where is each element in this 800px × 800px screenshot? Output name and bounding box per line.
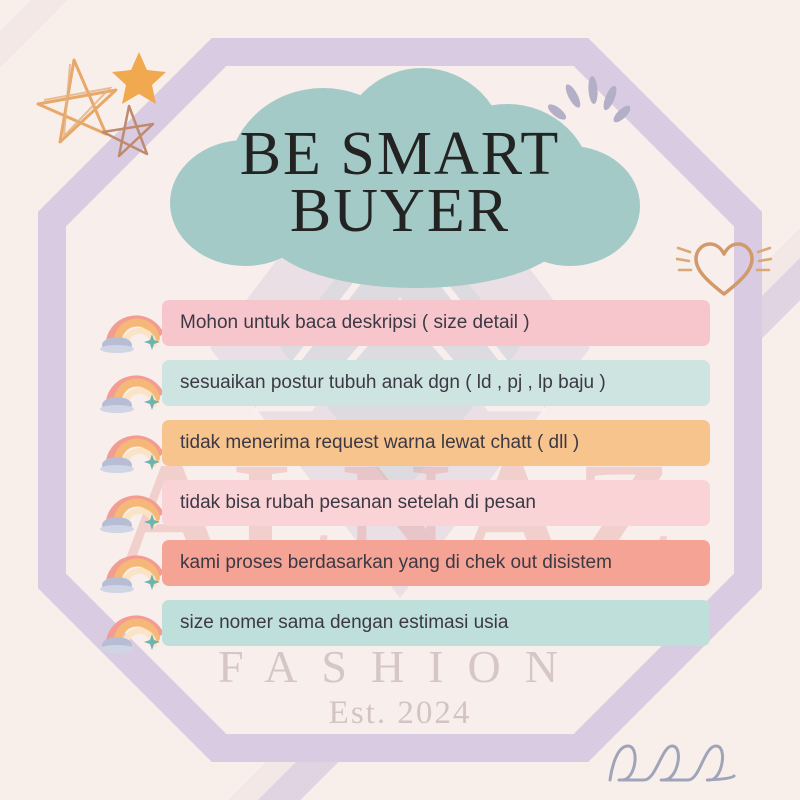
list-item[interactable]: sesuaikan postur tubuh anak dgn ( ld , p…	[100, 360, 710, 417]
rule-bar[interactable]: Mohon untuk baca deskripsi ( size detail…	[162, 300, 710, 346]
rule-text: kami proses berdasarkan yang di chek out…	[162, 552, 612, 574]
rule-bar[interactable]: sesuaikan postur tubuh anak dgn ( ld , p…	[162, 360, 710, 406]
rule-text: sesuaikan postur tubuh anak dgn ( ld , p…	[162, 372, 606, 394]
rule-text: Mohon untuk baca deskripsi ( size detail…	[162, 312, 530, 334]
sparkle-icon	[144, 514, 160, 530]
rule-bar[interactable]: kami proses berdasarkan yang di chek out…	[162, 540, 710, 586]
loop-squiggle-icon	[606, 736, 736, 788]
list-item[interactable]: tidak menerima request warna lewat chatt…	[100, 420, 710, 477]
sparkle-icon	[144, 334, 160, 350]
poster-canvas: ALNAZ FASHION Est. 2024 BE SMART BUYER	[0, 0, 800, 800]
list-item[interactable]: kami proses berdasarkan yang di chek out…	[100, 540, 710, 597]
rule-text: tidak bisa rubah pesanan setelah di pesa…	[162, 492, 536, 514]
sparkle-icon	[144, 394, 160, 410]
heart-outline-icon	[676, 228, 772, 302]
rule-bar[interactable]: tidak bisa rubah pesanan setelah di pesa…	[162, 480, 710, 526]
list-item[interactable]: size nomer sama dengan estimasi usia	[100, 600, 710, 657]
rule-text: tidak menerima request warna lewat chatt…	[162, 432, 579, 454]
list-item[interactable]: Mohon untuk baca deskripsi ( size detail…	[100, 300, 710, 357]
rules-list: Mohon untuk baca deskripsi ( size detail…	[100, 300, 710, 660]
sparkle-icon	[144, 634, 160, 650]
star-outline-icon	[95, 98, 161, 164]
rule-bar[interactable]: size nomer sama dengan estimasi usia	[162, 600, 710, 646]
rule-bar[interactable]: tidak menerima request warna lewat chatt…	[162, 420, 710, 466]
sparkle-icon	[144, 454, 160, 470]
sparkle-icon	[144, 574, 160, 590]
sparkle-burst-icon	[548, 66, 630, 136]
rule-text: size nomer sama dengan estimasi usia	[162, 612, 508, 634]
list-item[interactable]: tidak bisa rubah pesanan setelah di pesa…	[100, 480, 710, 537]
